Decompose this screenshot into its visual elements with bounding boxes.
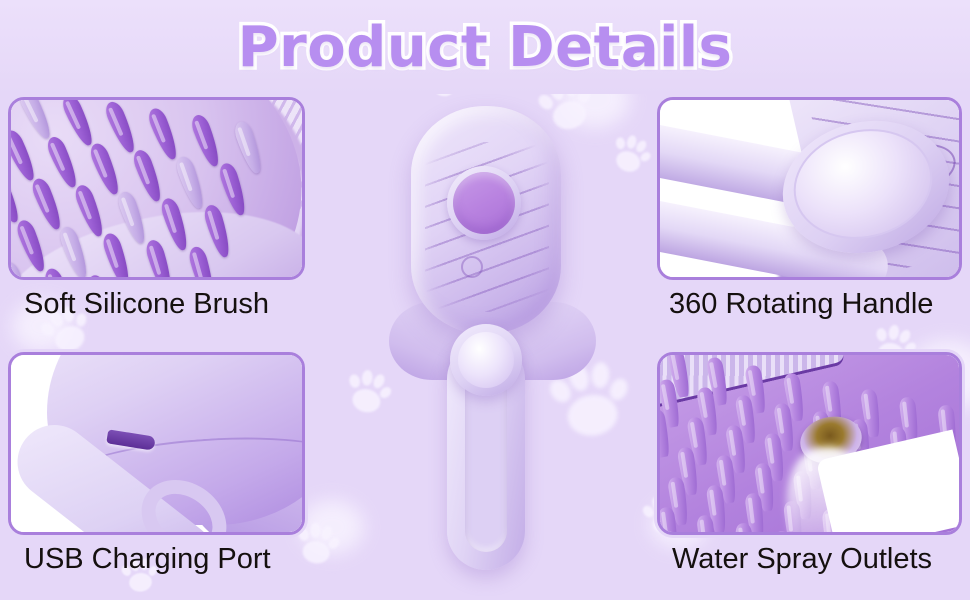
photo-water-spray-outlets: [660, 355, 959, 532]
caption-360-rotating-handle: 360 Rotating Handle: [669, 288, 933, 321]
caption-soft-silicone-brush: Soft Silicone Brush: [24, 288, 269, 321]
photo-soft-silicone-brush: [11, 100, 302, 277]
hero-product-image: [395, 96, 590, 576]
background-blob: [300, 500, 364, 554]
indicator-dot: [461, 256, 483, 278]
photo-usb-charging-port: [11, 355, 302, 532]
rotating-pivot-inner: [458, 332, 514, 388]
feature-panel-water-spray-outlets[interactable]: [657, 352, 962, 535]
photo-360-rotating-handle: [660, 100, 959, 277]
feature-panel-usb-charging-port[interactable]: [8, 352, 305, 535]
power-button[interactable]: [453, 172, 515, 234]
feature-panel-soft-silicone-brush[interactable]: [8, 97, 305, 280]
title-banner: Product Details: [0, 0, 970, 94]
product-details-infographic: Product Details Soft Silicone Brush 360 …: [0, 0, 970, 600]
page-title: Product Details: [238, 15, 733, 80]
feature-panel-360-rotating-handle[interactable]: [657, 97, 962, 280]
caption-water-spray-outlets: Water Spray Outlets: [672, 543, 932, 576]
caption-usb-charging-port: USB Charging Port: [24, 543, 271, 576]
paw-print-icon: [341, 366, 395, 419]
paw-print-icon: [606, 130, 656, 180]
